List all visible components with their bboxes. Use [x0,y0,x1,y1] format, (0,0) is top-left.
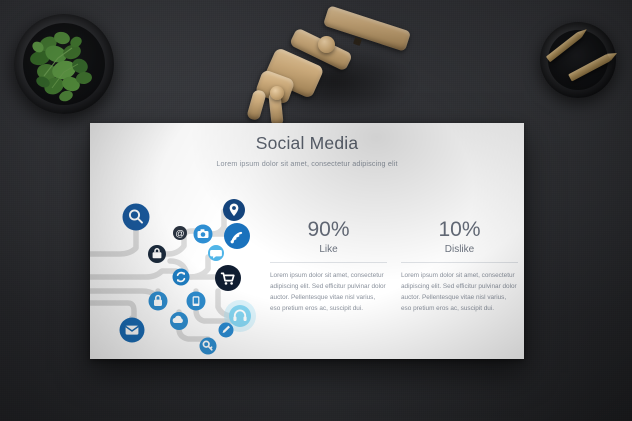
screenshot-scene: Social Media Lorem ipsum dolor sit amet,… [0,0,632,421]
scene-vignette [0,0,632,421]
